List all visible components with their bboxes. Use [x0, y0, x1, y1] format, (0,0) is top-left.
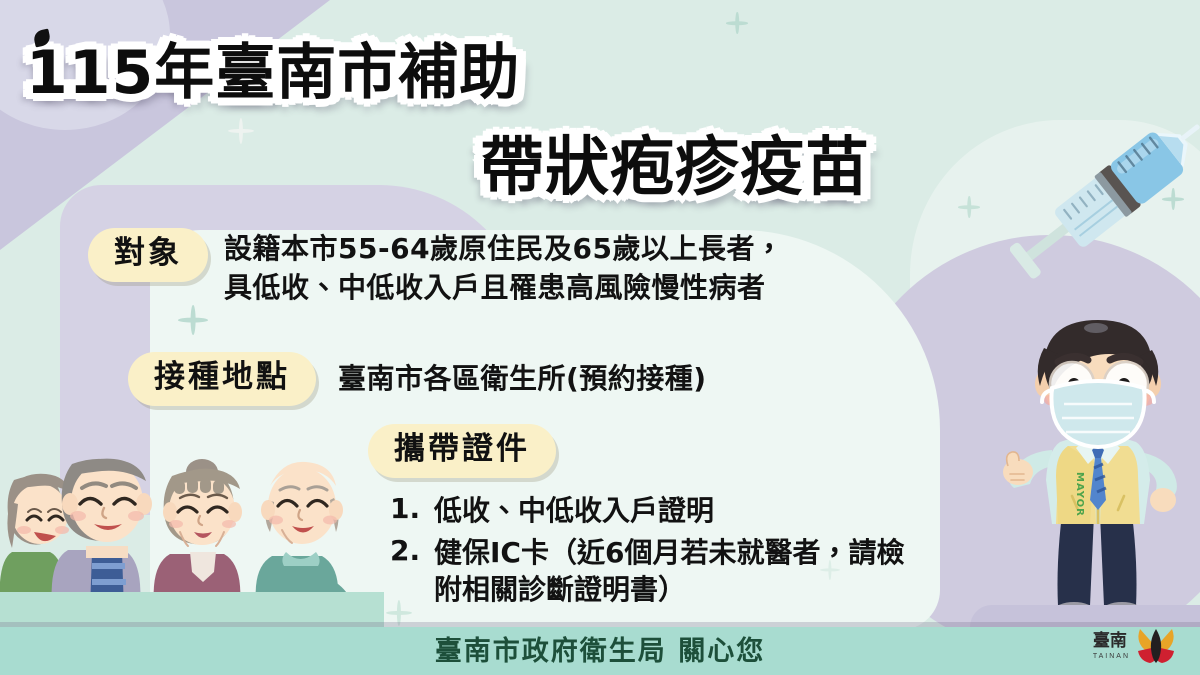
mayor-vest-label: MAYOR — [1074, 472, 1085, 517]
list-item: 1. 低收、中低收入戶證明 — [390, 492, 904, 530]
four-elderly-people-illustration — [0, 440, 384, 640]
list-item-text: 低收、中低收入戶證明 — [434, 492, 714, 530]
poster-canvas: 115年臺南市補助 帶狀疱疹疫苗 對象 設籍本市55-64歲原住民及65歲以上長… — [0, 0, 1200, 675]
tainan-city-logo: 臺南 TAINAN — [1093, 627, 1178, 665]
logo-chinese-text: 臺南 — [1093, 633, 1130, 650]
label-required-documents: 攜帶證件 — [368, 424, 556, 478]
label-vaccination-place: 接種地點 — [128, 352, 316, 406]
row-target: 對象 設籍本市55-64歲原住民及65歲以上長者， 具低收、中低收入戶且罹患高風… — [88, 228, 784, 307]
logo-english-text: TAINAN — [1093, 653, 1130, 660]
page-title-line2: 帶狀疱疹疫苗 — [480, 116, 870, 208]
page-title-line1: 115年臺南市補助 — [26, 24, 520, 111]
sparkle-icon — [178, 305, 208, 335]
sparkle-icon — [958, 196, 980, 218]
sparkle-icon — [228, 118, 254, 144]
mayor-mascot-illustration: MAYOR — [1000, 300, 1195, 630]
required-documents-list: 1. 低收、中低收入戶證明 2. 健保IC卡（近6個月若未就醫者，請檢 附相關診… — [390, 492, 904, 609]
value-target: 設籍本市55-64歲原住民及65歲以上長者， 具低收、中低收入戶且罹患高風險慢性… — [224, 230, 784, 307]
row-vaccination-place: 接種地點 臺南市各區衛生所(預約接種) — [128, 352, 707, 406]
syringe-illustration — [1010, 95, 1200, 300]
footer-text: 臺南市政府衛生局 關心您 — [0, 629, 1200, 668]
tainan-emblem-icon — [1134, 627, 1178, 665]
value-vaccination-place: 臺南市各區衛生所(預約接種) — [338, 360, 707, 399]
list-item: 2. 健保IC卡（近6個月若未就醫者，請檢 附相關診斷證明書） — [390, 534, 904, 610]
list-item-text: 健保IC卡（近6個月若未就醫者，請檢 附相關診斷證明書） — [434, 534, 904, 610]
list-item-number: 2. — [390, 534, 434, 567]
row-required-documents: 攜帶證件 1. 低收、中低收入戶證明 2. 健保IC卡（近6個月若未就醫者，請檢… — [368, 424, 904, 613]
list-item-number: 1. — [390, 492, 434, 525]
sparkle-icon — [726, 12, 748, 34]
label-target: 對象 — [88, 228, 208, 282]
